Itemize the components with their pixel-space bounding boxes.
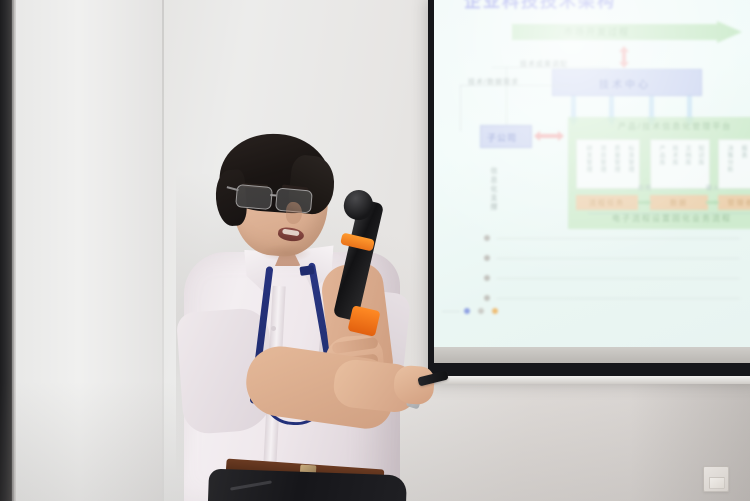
bullet-line-2 xyxy=(496,258,740,259)
eyeglasses-lens-left xyxy=(235,184,273,210)
process-box-1-label: 流程任务 xyxy=(589,198,625,208)
bullet-dot-1 xyxy=(484,235,490,241)
tech-center-box: 技术中心 xyxy=(552,69,702,96)
vertical-note: 信息化支撑 xyxy=(488,167,498,212)
lanyard-clip xyxy=(299,265,314,276)
footer-dot-1 xyxy=(464,308,470,314)
process-box-3: 管理者 xyxy=(718,195,750,210)
presentation-photo-scene: 企业科技技术架构 市场开发过程 技术中心 xyxy=(0,0,750,501)
info-platform-footer: 电子流程设置固化业务流程 xyxy=(612,213,732,224)
shirt-button-1 xyxy=(271,326,276,331)
presenter xyxy=(150,140,460,501)
presenter-hand-holding-clicker xyxy=(393,365,436,406)
bullet-line-3 xyxy=(496,278,740,279)
bullet-line-1 xyxy=(496,238,740,239)
process-box-1: 流程任务 xyxy=(576,195,638,210)
module-card-1-col-2: 项目管理 xyxy=(597,145,606,173)
bullet-dot-3 xyxy=(484,275,490,281)
slide-content: 企业科技技术架构 市场开发过程 技术中心 xyxy=(434,0,750,347)
tech-center-label: 技术中心 xyxy=(599,76,651,91)
footer-dot-3 xyxy=(492,308,498,314)
module-card-3: 决策分析 报表 统计 xyxy=(718,139,750,189)
red-double-arrow-horizontal xyxy=(534,131,564,141)
sub-company-label: 子公司 xyxy=(487,131,517,144)
presenter-nose xyxy=(286,202,302,224)
sub-company-box: 子公司 xyxy=(480,125,532,148)
module-card-2-col-1: 产品库 xyxy=(656,145,665,166)
module-card-2-col-3: 文档库 xyxy=(682,145,691,166)
process-box-2: 数据 xyxy=(650,195,708,210)
module-card-2-col-2: 技术库 xyxy=(669,145,678,166)
projection-screen: 企业科技技术架构 市场开发过程 技术中心 xyxy=(428,0,750,377)
projection-screen-bottom-bar xyxy=(434,347,750,363)
module-card-1-col-4: 标准管理 xyxy=(625,145,634,173)
module-card-1-col-1: 研发管理 xyxy=(583,145,592,173)
connector-line-4 xyxy=(506,67,507,125)
module-card-1-col-3: 质量管理 xyxy=(611,145,620,173)
footer-dot-2 xyxy=(478,308,484,314)
bullet-dot-4 xyxy=(484,295,490,301)
connector-line-3 xyxy=(460,85,461,131)
info-platform-panel: 产品/技术信息化管理平台 研发管理 项目管理 质量管理 标准管理 产品库 技术库… xyxy=(568,117,750,229)
left-label-1: 技术成果调配 xyxy=(520,59,568,69)
process-box-3-label: 管理者 xyxy=(728,198,750,208)
info-platform-title: 产品/技术信息化管理平台 xyxy=(618,121,732,132)
process-connector-1-label: 应用 xyxy=(638,183,652,192)
process-connector-2-label: 输入 xyxy=(706,183,720,192)
module-card-2: 产品库 技术库 文档库 知识库 xyxy=(650,139,710,189)
module-card-1: 研发管理 项目管理 质量管理 标准管理 xyxy=(576,139,640,189)
projection-screen-surface: 企业科技技术架构 市场开发过程 技术中心 xyxy=(434,0,750,347)
process-box-2-label: 数据 xyxy=(670,198,688,208)
bullet-line-4 xyxy=(496,298,740,299)
module-card-2-col-4: 知识库 xyxy=(695,145,704,166)
presenter-chin-shadow xyxy=(260,244,312,262)
module-card-3-col-1: 决策分析 xyxy=(724,145,733,173)
presenter-teeth xyxy=(282,229,300,237)
market-development-arrow-label: 市场开发过程 xyxy=(564,25,630,38)
market-development-arrow: 市场开发过程 xyxy=(512,21,742,43)
left-label-2: 技术/数据需求 xyxy=(468,77,519,87)
module-card-3-col-2: 报表 xyxy=(738,145,747,159)
bullet-dot-2 xyxy=(484,255,490,261)
light-switch-rocker[interactable] xyxy=(709,477,725,489)
wall-light-switch[interactable] xyxy=(703,466,729,492)
red-double-arrow-vertical xyxy=(619,46,629,68)
slide-title: 企业科技技术架构 xyxy=(464,0,616,12)
